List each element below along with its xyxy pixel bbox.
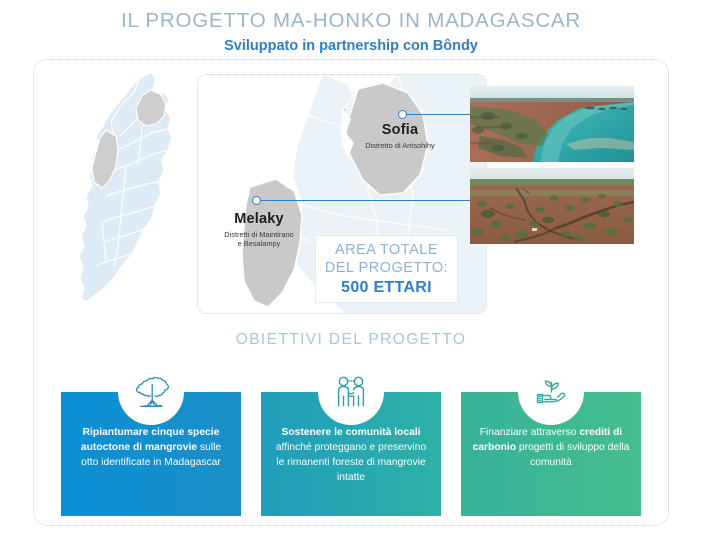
page-header: IL PROGETTO MA-HONKO IN MADAGASCAR Svilu…: [0, 0, 702, 56]
place-label-sofia: Sofia Distretto di Antsohihy: [340, 122, 460, 150]
place-district-sofia: Distretto di Antsohihy: [340, 141, 460, 151]
objective-text-bold-2: Sostenere le comunità locali: [281, 427, 420, 438]
place-district-melaky-line2: e Besalampy: [196, 239, 322, 249]
aerial-coastline-lagoon-photo: [470, 86, 634, 162]
leader-line-sofia: [406, 114, 472, 116]
hand-holding-sprout-icon: [518, 359, 584, 425]
objective-text-rest-2: affinché proteggano e preservino le rima…: [276, 442, 426, 483]
total-area-box: AREA TOTALE DEL PROGETTO: 500 ETTARI: [315, 235, 458, 303]
aerial-arid-vegetation-photo: [470, 168, 634, 244]
place-name-melaky: Melaky: [196, 211, 322, 228]
leader-line-melaky: [260, 200, 472, 202]
page-subtitle: Sviluppato in partnership con Bôndy: [0, 37, 702, 57]
madagascar-locator-map: [56, 66, 206, 316]
marker-sofia: [398, 110, 407, 119]
objective-card-communities: Sostenere le comunità locali affinché pr…: [261, 392, 441, 516]
marker-melaky: [252, 196, 261, 205]
area-label-line2: DEL PROGETTO:: [316, 260, 457, 278]
page-title: IL PROGETTO MA-HONKO IN MADAGASCAR: [0, 9, 702, 34]
place-label-melaky: Melaky Distretti di Maintirano e Besalam…: [196, 211, 322, 249]
place-district-melaky-line1: Distretti di Maintirano: [196, 230, 322, 240]
objective-card-carbon-credits: Finanziare attraverso crediti di carboni…: [461, 392, 641, 516]
objective-card-replant: Ripiantumare cinque specie autoctone di …: [61, 392, 241, 516]
area-label-line1: AREA TOTALE: [316, 242, 457, 260]
area-value: 500 ETTARI: [316, 278, 457, 298]
objective-text-pre-3: Finanziare attraverso: [480, 427, 580, 438]
objective-text-post-3: progetti di sviluppo della comunità: [516, 442, 629, 468]
objectives-heading: OBIETTIVI DEL PROGETTO: [0, 331, 702, 349]
two-people-handshake-icon: [318, 359, 384, 425]
objectives-card-group: Ripiantumare cinque specie autoctone di …: [61, 392, 641, 516]
mangrove-tree-icon: [118, 359, 184, 425]
place-name-sofia: Sofia: [340, 122, 460, 139]
